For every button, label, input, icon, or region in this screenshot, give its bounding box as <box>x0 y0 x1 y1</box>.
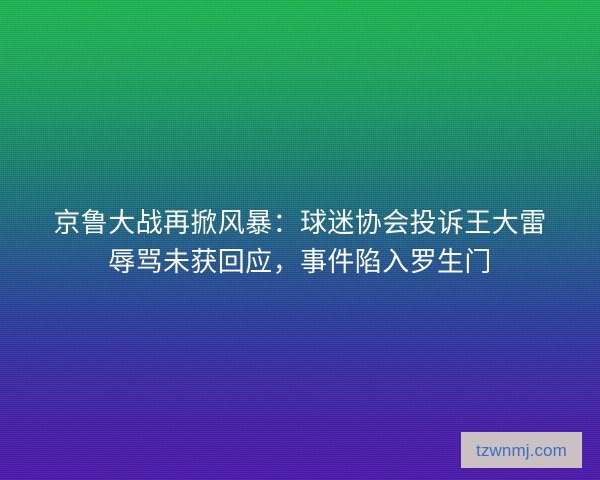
watermark-badge: tzwnmj.com <box>461 432 582 468</box>
headline-line-2: 辱骂未获回应，事件陷入罗生门 <box>16 243 584 282</box>
headline: 京鲁大战再掀风暴：球迷协会投诉王大雷 辱骂未获回应，事件陷入罗生门 <box>0 204 600 282</box>
headline-line-1: 京鲁大战再掀风暴：球迷协会投诉王大雷 <box>16 204 584 243</box>
image-canvas: 京鲁大战再掀风暴：球迷协会投诉王大雷 辱骂未获回应，事件陷入罗生门 tzwnmj… <box>0 0 600 480</box>
watermark-site-label: tzwnmj.com <box>476 442 567 459</box>
